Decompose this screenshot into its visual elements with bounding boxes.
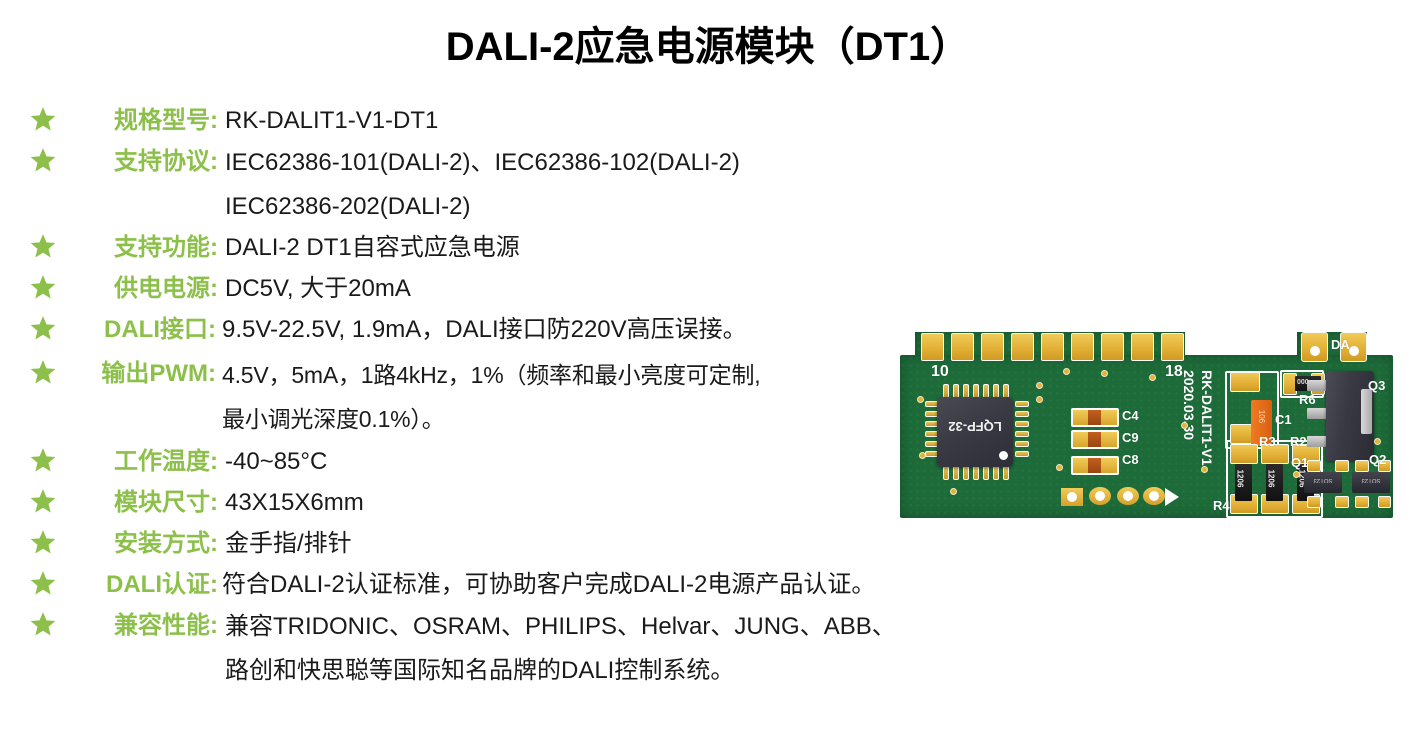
qfp-lead xyxy=(993,466,999,480)
pad xyxy=(1307,460,1321,472)
silkscreen-ref-r3: R3 xyxy=(1259,434,1276,449)
gold-finger-pad xyxy=(921,333,944,361)
via xyxy=(950,488,957,495)
qfp-lead xyxy=(1003,466,1009,480)
via xyxy=(1293,471,1300,478)
spec-row-protocol: 支持协议: IEC62386-101(DALI-2)、IEC62386-102(… xyxy=(0,141,960,227)
capacitor-c9 xyxy=(1071,430,1119,449)
spec-row-power-supply: 供电电源: DC5V, 大于20mA xyxy=(0,268,960,309)
spec-row-function: 支持功能: DALI-2 DT1自容式应急电源 xyxy=(0,227,960,268)
silkscreen-ref-r4: R4 xyxy=(1213,498,1230,513)
spec-row-compatibility: 兼容性能: 兼容TRIDONIC、OSRAM、PHILIPS、Helvar、JU… xyxy=(0,605,960,693)
spec-row-mounting: 安装方式: 金手指/排针 xyxy=(0,523,960,564)
capacitor-c8 xyxy=(1071,456,1119,475)
qfp-lead xyxy=(953,466,959,480)
qfp-lead xyxy=(973,384,979,398)
qfp-lead xyxy=(1015,431,1029,437)
ic-q3-thermal-tab xyxy=(1361,389,1372,434)
spec-value-line: 最小调光深度0.1%）。 xyxy=(222,397,760,441)
qfp-pin1-marker xyxy=(999,451,1008,460)
pad xyxy=(1230,444,1258,464)
via xyxy=(1149,374,1156,381)
gold-finger-pad xyxy=(1101,333,1124,361)
through-hole-pad xyxy=(1089,487,1111,505)
pad xyxy=(1335,496,1349,508)
spec-row-pwm-output: 输出PWM: 4.5V，5mA，1路4kHz，1%（频率和最小亮度可定制, 最小… xyxy=(0,353,960,441)
qfp-lead xyxy=(1015,411,1029,417)
da-terminal-hole xyxy=(1310,346,1320,356)
spec-value: 43X15X6mm xyxy=(225,482,364,523)
gold-finger-pad xyxy=(1161,333,1184,361)
spec-value: RK-DALIT1-V1-DT1 xyxy=(225,100,438,141)
silkscreen-ref-q3: Q3 xyxy=(1368,378,1385,393)
via xyxy=(1181,422,1188,429)
pcb-product-image: DA 10 18 LQFP-32 C4 C9 xyxy=(893,316,1393,521)
transistor-q1-marking: SOT23 xyxy=(1304,476,1342,483)
pad xyxy=(1355,496,1369,508)
via xyxy=(1374,438,1381,445)
silkscreen-pad-number-10: 10 xyxy=(931,363,949,381)
gold-finger-pad xyxy=(1041,333,1064,361)
spec-value: -40~85°C xyxy=(225,441,327,482)
spec-value: 4.5V，5mA，1路4kHz，1%（频率和最小亮度可定制, 最小调光深度0.1… xyxy=(222,353,760,441)
qfp-lead xyxy=(1015,421,1029,427)
spec-label: 规格型号: xyxy=(0,100,218,141)
pad xyxy=(1378,496,1391,508)
spec-label: 工作温度: xyxy=(0,441,218,482)
spec-value: DC5V, 大于20mA xyxy=(225,268,411,309)
qfp-lead xyxy=(983,384,989,398)
spec-value-line: 路创和快思聪等国际知名品牌的DALI控制系统。 xyxy=(225,649,896,693)
via xyxy=(1101,370,1108,377)
qfp-lead xyxy=(993,384,999,398)
via xyxy=(1036,396,1043,403)
qfp-lead xyxy=(963,466,969,480)
spec-value: IEC62386-101(DALI-2)、IEC62386-102(DALI-2… xyxy=(225,141,740,229)
qfp-lead xyxy=(953,384,959,398)
polarity-triangle-marker xyxy=(1165,488,1179,506)
spec-value: DALI-2 DT1自容式应急电源 xyxy=(225,227,520,268)
page-title: DALI-2应急电源模块（DT1） xyxy=(0,14,1416,72)
qfp-lead xyxy=(1015,401,1029,407)
pad xyxy=(1307,496,1321,508)
qfp-lead xyxy=(943,384,949,398)
pad xyxy=(1335,460,1349,472)
via xyxy=(1036,382,1043,389)
silkscreen-ref-c4: C4 xyxy=(1122,408,1139,423)
spec-label: 供电电源: xyxy=(0,268,218,309)
da-terminal-hole xyxy=(1349,346,1359,356)
spec-label: 兼容性能: xyxy=(0,605,218,646)
spec-label: 安装方式: xyxy=(0,523,218,564)
silkscreen-da-label: DA xyxy=(1331,337,1350,352)
silkscreen-ref-q1: Q1 xyxy=(1291,455,1308,470)
capacitor-c1-marking: 106 xyxy=(1257,406,1266,427)
qfp-lead xyxy=(943,466,949,480)
spec-value-line: 兼容TRIDONIC、OSRAM、PHILIPS、Helvar、JUNG、ABB… xyxy=(225,605,896,649)
qfp-lead xyxy=(1015,441,1029,447)
transistor-q2-marking: SOT23 xyxy=(1352,476,1390,483)
spec-row-module-size: 模块尺寸: 43X15X6mm xyxy=(0,482,960,523)
silkscreen-board-date: 2020.03.30 xyxy=(1181,370,1197,440)
via xyxy=(1056,464,1063,471)
resistor-r3-marking: 1206 xyxy=(1266,470,1275,488)
resistor-r4-marking: 1206 xyxy=(1235,470,1244,488)
qfp-lead xyxy=(983,466,989,480)
spec-label: DALI认证: xyxy=(0,564,218,605)
silkscreen-ref-r2: R2 xyxy=(1290,434,1307,449)
spec-value: 兼容TRIDONIC、OSRAM、PHILIPS、Helvar、JUNG、ABB… xyxy=(225,605,896,693)
through-hole-pad xyxy=(1143,487,1165,505)
silkscreen-ref-c1: C1 xyxy=(1275,412,1292,427)
gold-finger-pad xyxy=(951,333,974,361)
spec-value-line: IEC62386-101(DALI-2)、IEC62386-102(DALI-2… xyxy=(225,141,740,185)
specification-list: 规格型号: RK-DALIT1-V1-DT1 支持协议: IEC62386-10… xyxy=(0,100,960,693)
spec-label: 支持协议: xyxy=(0,141,218,182)
spec-row-dali-certification: DALI认证: 符合DALI-2认证标准，可协助客户完成DALI-2电源产品认证… xyxy=(0,564,960,605)
silkscreen-ref-r6: R6 xyxy=(1299,392,1316,407)
spec-label: 支持功能: xyxy=(0,227,218,268)
spec-value: 金手指/排针 xyxy=(225,523,352,564)
spec-value: 符合DALI-2认证标准，可协助客户完成DALI-2电源产品认证。 xyxy=(222,564,875,605)
gold-finger-pad xyxy=(1071,333,1094,361)
gold-finger-pad xyxy=(1131,333,1154,361)
qfp-chip-label: LQFP-32 xyxy=(937,419,1013,434)
via xyxy=(1201,466,1208,473)
through-hole-pad xyxy=(1061,488,1083,506)
silkscreen-board-name: RK-DALIT1-V1 xyxy=(1199,370,1215,466)
gold-finger-pad xyxy=(981,333,1004,361)
through-hole-pad xyxy=(1117,487,1139,505)
gold-finger-pad xyxy=(1011,333,1034,361)
spec-row-operating-temperature: 工作温度: -40~85°C xyxy=(0,441,960,482)
spec-value-line: 4.5V，5mA，1路4kHz，1%（频率和最小亮度可定制, xyxy=(222,353,760,397)
spec-value: 9.5V-22.5V, 1.9mA，DALI接口防220V高压误接。 xyxy=(222,309,747,350)
da-terminal-pad xyxy=(1301,332,1328,362)
pad xyxy=(1355,460,1369,472)
qfp-lead xyxy=(1015,451,1029,457)
silkscreen-ref-q2: Q2 xyxy=(1369,452,1386,467)
spec-row-model: 规格型号: RK-DALIT1-V1-DT1 xyxy=(0,100,960,141)
spec-label: DALI接口: xyxy=(0,309,216,350)
qfp-lead xyxy=(963,384,969,398)
via xyxy=(1063,368,1070,375)
spec-value-line: IEC62386-202(DALI-2) xyxy=(225,185,740,229)
spec-label: 模块尺寸: xyxy=(0,482,218,523)
silkscreen-ref-c8: C8 xyxy=(1122,452,1139,467)
spec-row-dali-interface: DALI接口: 9.5V-22.5V, 1.9mA，DALI接口防220V高压误… xyxy=(0,309,960,353)
spec-label: 输出PWM: xyxy=(0,353,216,394)
via xyxy=(917,396,924,403)
qfp-lead xyxy=(1003,384,1009,398)
silkscreen-ref-c9: C9 xyxy=(1122,430,1139,445)
pad xyxy=(1230,372,1260,392)
capacitor-c4 xyxy=(1071,408,1119,427)
qfp-lead xyxy=(973,466,979,480)
